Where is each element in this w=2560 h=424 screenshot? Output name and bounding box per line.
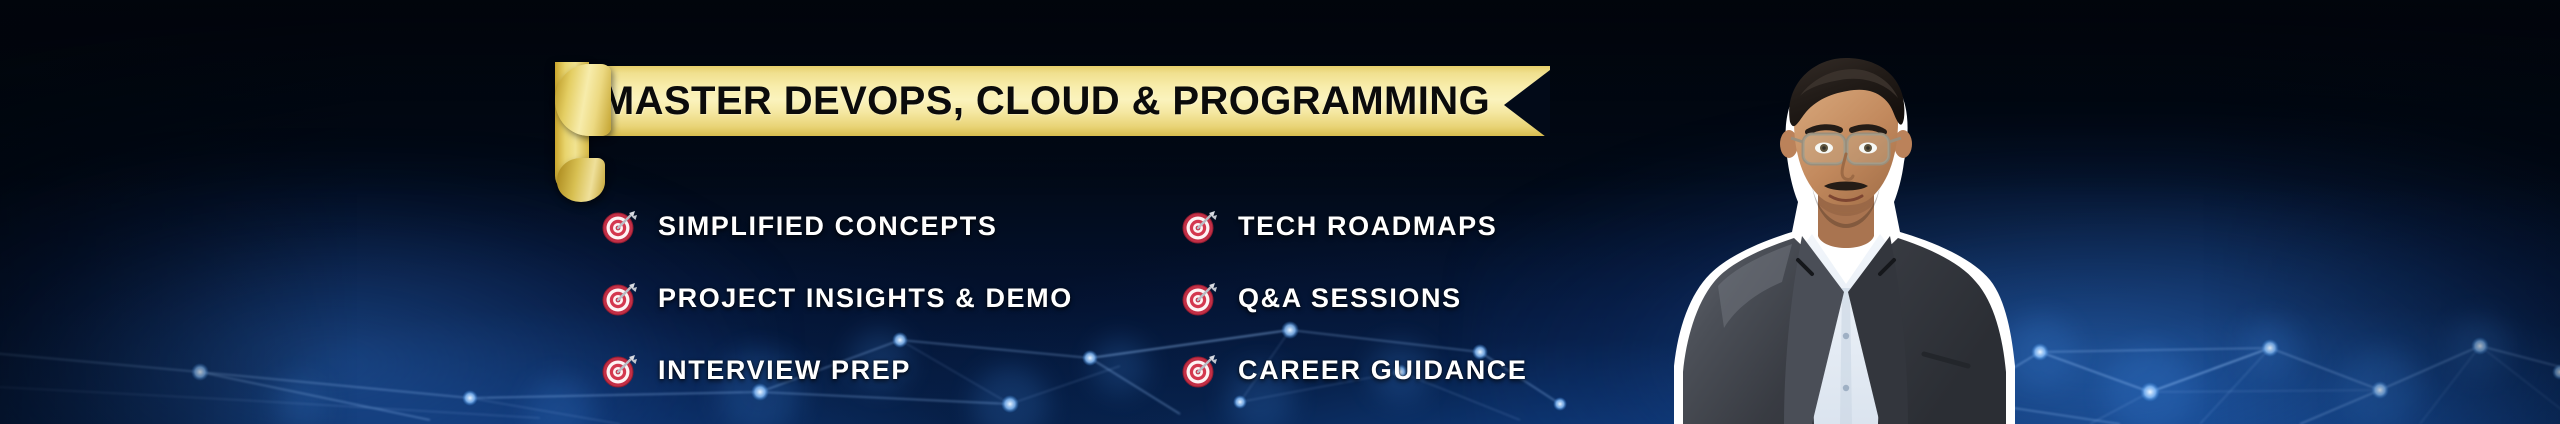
dart-target-icon xyxy=(600,350,640,390)
feature-label: PROJECT INSIGHTS & DEMO xyxy=(658,283,1073,314)
feature-label: CAREER GUIDANCE xyxy=(1238,355,1528,386)
feature-item-qa-sessions: Q&A SESSIONS xyxy=(1180,262,1650,334)
feature-item-interview-prep: INTERVIEW PREP xyxy=(600,334,1120,406)
promo-banner: MASTER DEVOPS, CLOUD & PROGRAMMING xyxy=(0,0,2560,424)
presenter-photo xyxy=(1672,36,2017,424)
headline-text: MASTER DEVOPS, CLOUD & PROGRAMMING xyxy=(601,79,1534,124)
feature-list: SIMPLIFIED CONCEPTS xyxy=(600,190,1660,405)
dart-target-icon xyxy=(1180,206,1220,246)
feature-label: INTERVIEW PREP xyxy=(658,355,911,386)
feature-label: TECH ROADMAPS xyxy=(1238,211,1497,242)
feature-item-project-insights-demo: PROJECT INSIGHTS & DEMO xyxy=(600,262,1120,334)
ribbon-body: MASTER DEVOPS, CLOUD & PROGRAMMING xyxy=(585,66,1550,136)
headline-ribbon: MASTER DEVOPS, CLOUD & PROGRAMMING xyxy=(555,62,1550,138)
feature-column-right: TECH ROADMAPS Q&A SE xyxy=(1180,190,1650,406)
dart-target-icon xyxy=(600,206,640,246)
dart-target-icon xyxy=(600,278,640,318)
dart-target-icon xyxy=(1180,278,1220,318)
dart-target-icon xyxy=(1180,350,1220,390)
ribbon-curl-bottom xyxy=(557,158,605,202)
feature-item-tech-roadmaps: TECH ROADMAPS xyxy=(1180,190,1650,262)
feature-item-simplified-concepts: SIMPLIFIED CONCEPTS xyxy=(600,190,1120,262)
feature-column-left: SIMPLIFIED CONCEPTS xyxy=(600,190,1120,406)
feature-label: Q&A SESSIONS xyxy=(1238,283,1462,314)
feature-label: SIMPLIFIED CONCEPTS xyxy=(658,211,997,242)
feature-item-career-guidance: CAREER GUIDANCE xyxy=(1180,334,1650,406)
